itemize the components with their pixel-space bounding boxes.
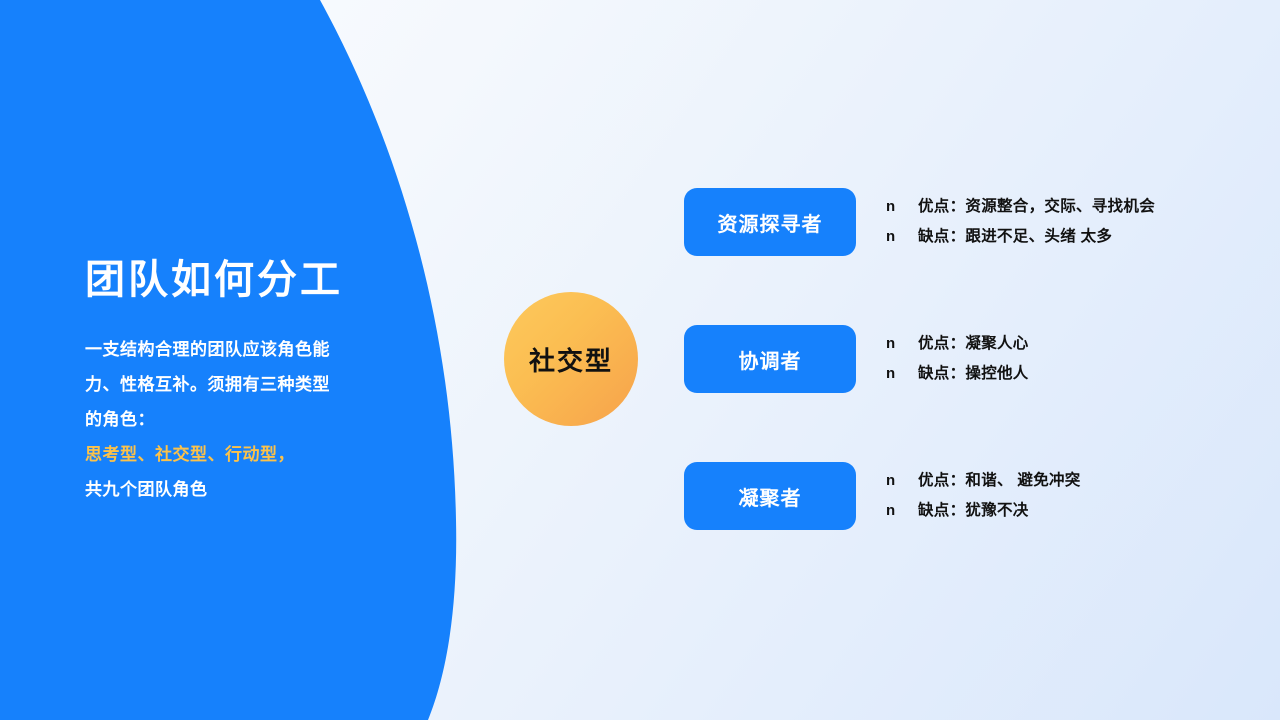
bullet-text: 优点：凝聚人心 bbox=[918, 329, 1029, 359]
bullet-item: n 缺点：跟进不足、头绪 太多 bbox=[886, 222, 1155, 252]
bullet-marker-icon: n bbox=[886, 496, 918, 526]
slide-canvas: 团队如何分工 一支结构合理的团队应该角色能 力、性格互补。须拥有三种类型 的角色… bbox=[0, 0, 1280, 720]
bullet-marker-icon: n bbox=[886, 466, 918, 496]
role-row: 协调者 n 优点：凝聚人心 n 缺点：操控他人 bbox=[684, 325, 1155, 393]
intro-line-1: 一支结构合理的团队应该角色能 bbox=[85, 332, 415, 367]
bullet-marker-icon: n bbox=[886, 359, 918, 389]
intro-line-3: 的角色： bbox=[85, 402, 415, 437]
bullet-item: n 优点：凝聚人心 bbox=[886, 329, 1029, 359]
role-label: 资源探寻者 bbox=[718, 208, 823, 237]
bullet-text: 缺点：犹豫不决 bbox=[918, 496, 1029, 526]
bullet-text: 优点：资源整合，交际、寻找机会 bbox=[918, 192, 1155, 222]
intro-line-2: 力、性格互补。须拥有三种类型 bbox=[85, 367, 415, 402]
bullet-text: 优点：和谐、 避免冲突 bbox=[918, 466, 1081, 496]
role-bullets: n 优点：和谐、 避免冲突 n 缺点：犹豫不决 bbox=[886, 466, 1081, 526]
bullet-text: 缺点：跟进不足、头绪 太多 bbox=[918, 222, 1112, 252]
page-title: 团队如何分工 bbox=[85, 258, 415, 302]
bullet-item: n 缺点：犹豫不决 bbox=[886, 496, 1081, 526]
role-box-coordinator[interactable]: 协调者 bbox=[684, 325, 856, 393]
role-box-resource-seeker[interactable]: 资源探寻者 bbox=[684, 188, 856, 256]
role-bullets: n 优点：资源整合，交际、寻找机会 n 缺点：跟进不足、头绪 太多 bbox=[886, 192, 1155, 252]
bullet-item: n 优点：资源整合，交际、寻找机会 bbox=[886, 192, 1155, 222]
role-bullets: n 优点：凝聚人心 n 缺点：操控他人 bbox=[886, 329, 1029, 389]
role-row: 凝聚者 n 优点：和谐、 避免冲突 n 缺点：犹豫不决 bbox=[684, 462, 1155, 530]
category-circle-label: 社交型 bbox=[529, 341, 613, 378]
bullet-marker-icon: n bbox=[886, 329, 918, 359]
role-label: 凝聚者 bbox=[739, 482, 802, 511]
role-box-team-worker[interactable]: 凝聚者 bbox=[684, 462, 856, 530]
intro-line-4-highlight: 思考型、社交型、行动型， bbox=[85, 437, 415, 472]
bullet-item: n 缺点：操控他人 bbox=[886, 359, 1029, 389]
left-text-block: 团队如何分工 一支结构合理的团队应该角色能 力、性格互补。须拥有三种类型 的角色… bbox=[85, 258, 415, 507]
role-row: 资源探寻者 n 优点：资源整合，交际、寻找机会 n 缺点：跟进不足、头绪 太多 bbox=[684, 188, 1155, 256]
role-list: 资源探寻者 n 优点：资源整合，交际、寻找机会 n 缺点：跟进不足、头绪 太多 … bbox=[684, 188, 1155, 530]
bullet-text: 缺点：操控他人 bbox=[918, 359, 1029, 389]
role-label: 协调者 bbox=[739, 345, 802, 374]
category-circle: 社交型 bbox=[504, 292, 638, 426]
bullet-item: n 优点：和谐、 避免冲突 bbox=[886, 466, 1081, 496]
bullet-marker-icon: n bbox=[886, 222, 918, 252]
intro-line-5: 共九个团队角色 bbox=[85, 472, 415, 507]
bullet-marker-icon: n bbox=[886, 192, 918, 222]
